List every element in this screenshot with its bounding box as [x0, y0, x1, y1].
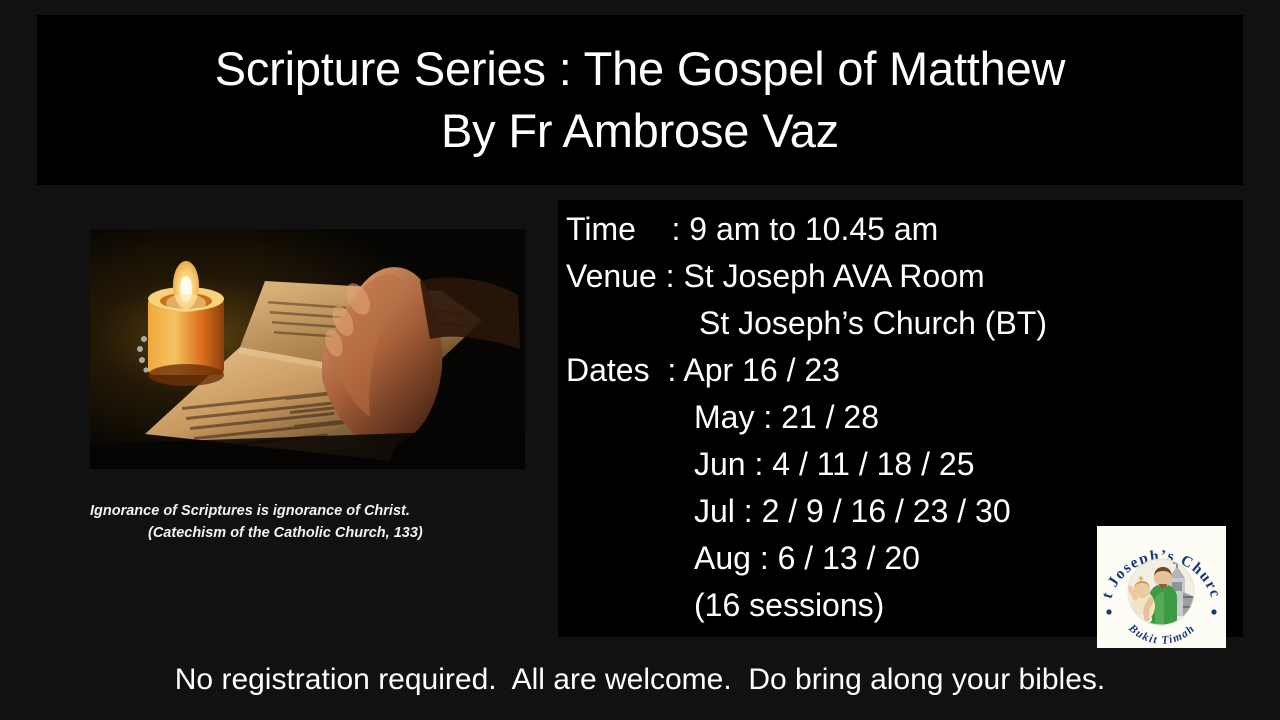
- detail-venue: Venue : St Joseph AVA Room: [566, 253, 1243, 300]
- caption-line-1: Ignorance of Scriptures is ignorance of …: [90, 503, 410, 519]
- scripture-quote-caption: Ignorance of Scriptures is ignorance of …: [90, 500, 540, 545]
- detail-dates-may: May : 21 / 28: [566, 394, 1243, 441]
- title-banner: Scripture Series : The Gospel of Matthew…: [37, 15, 1243, 185]
- church-crest-icon: St Joseph’s Church Bukit Timah: [1097, 526, 1226, 648]
- title-line-2: By Fr Ambrose Vaz: [441, 100, 839, 162]
- logo-dot-left: [1106, 609, 1111, 614]
- slide-canvas: Scripture Series : The Gospel of Matthew…: [0, 0, 1280, 720]
- caption-line-2: (Catechism of the Catholic Church, 133): [90, 522, 540, 544]
- detail-time: Time : 9 am to 10.45 am: [566, 206, 1243, 253]
- footer-note: No registration required. All are welcom…: [0, 658, 1280, 702]
- st-josephs-church-logo: St Joseph’s Church Bukit Timah: [1097, 526, 1226, 648]
- detail-dates-apr: Dates : Apr 16 / 23: [566, 347, 1243, 394]
- candle-bible-photo: [90, 229, 525, 469]
- title-line-1: Scripture Series : The Gospel of Matthew: [215, 38, 1066, 100]
- detail-venue-church: St Joseph’s Church (BT): [566, 300, 1243, 347]
- logo-dot-right: [1211, 609, 1216, 614]
- detail-dates-jun: Jun : 4 / 11 / 18 / 25: [566, 441, 1243, 488]
- candle-bible-illustration: [90, 229, 525, 469]
